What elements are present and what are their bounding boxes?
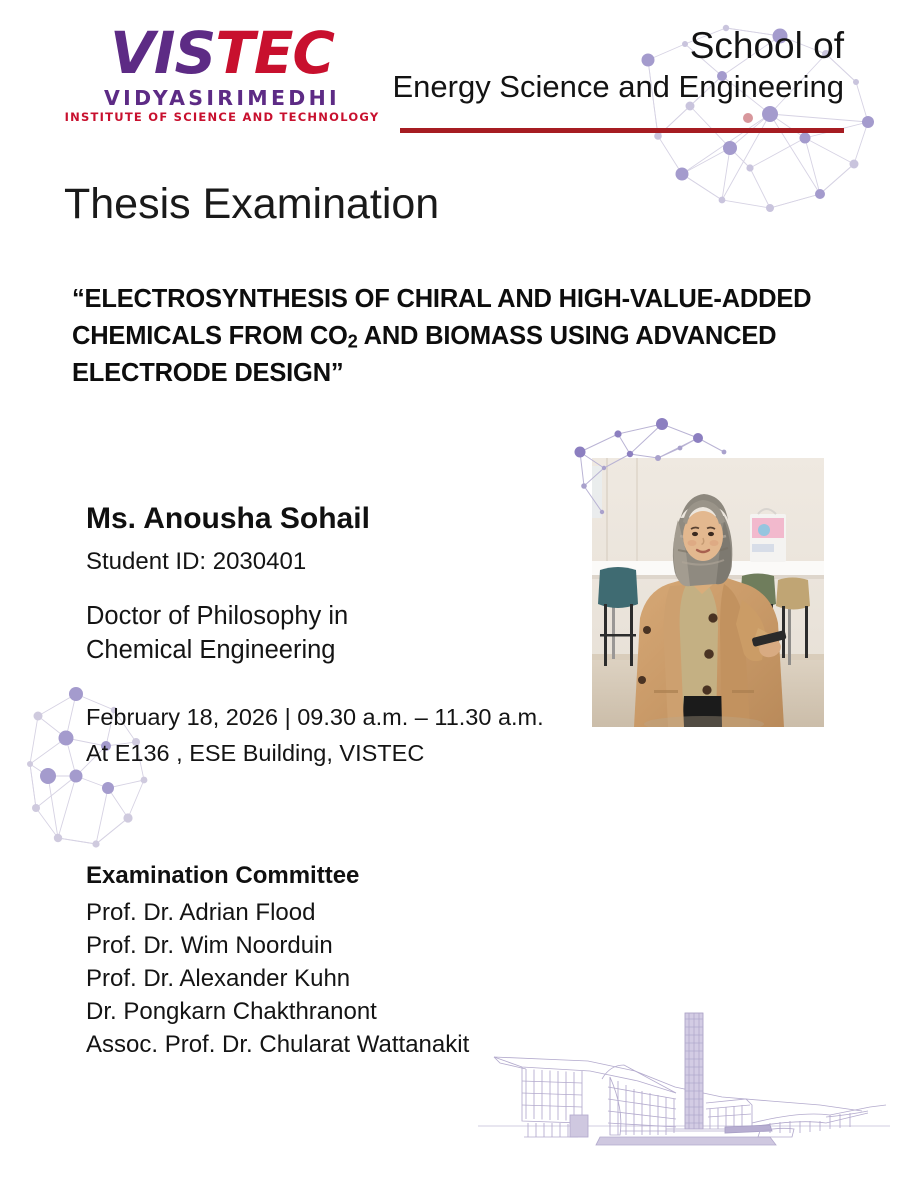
school-line-2: Energy Science and Engineering: [392, 69, 844, 105]
school-name-block: School of Energy Science and Engineering: [392, 26, 844, 104]
ese-building-icon: [470, 1005, 900, 1170]
list-item: Prof. Dr. Wim Noorduin: [86, 929, 469, 962]
list-item: Assoc. Prof. Dr. Chularat Wattanakit: [86, 1028, 469, 1061]
thesis-title-line-2-post: AND BIOMASS USING ADVANCED: [358, 322, 777, 350]
logo-subtitle-name: VIDYASIRIMEDHI: [62, 88, 382, 109]
committee-list: Prof. Dr. Adrian Flood Prof. Dr. Wim Noo…: [86, 896, 469, 1062]
event-datetime: February 18, 2026 | 09.30 a.m. – 11.30 a…: [86, 704, 544, 731]
thesis-examination-poster: VISTEC VIDYASIRIMEDHI INSTITUTE OF SCIEN…: [0, 0, 900, 1200]
page-title: Thesis Examination: [64, 180, 439, 229]
student-id: Student ID: 2030401: [86, 548, 306, 576]
list-item: Prof. Dr. Adrian Flood: [86, 896, 469, 929]
event-venue: At E136 , ESE Building, VISTEC: [86, 740, 424, 767]
committee-heading: Examination Committee: [86, 862, 359, 890]
thesis-title-line-1: “ELECTROSYNTHESIS OF CHIRAL AND HIGH-VAL…: [72, 285, 811, 313]
degree-program: Doctor of Philosophy in Chemical Enginee…: [86, 599, 516, 667]
student-photo: [592, 458, 824, 727]
school-red-rule: [400, 128, 844, 133]
student-name: Ms. Anousha Sohail: [86, 502, 370, 536]
school-line-1: School of: [392, 26, 844, 67]
degree-line-1: Doctor of Philosophy in: [86, 602, 348, 630]
student-portrait-image: [592, 458, 824, 727]
list-item: Prof. Dr. Alexander Kuhn: [86, 962, 469, 995]
thesis-title-line-2-pre: CHEMICALS FROM CO: [72, 322, 348, 350]
degree-line-2: Chemical Engineering: [86, 636, 335, 664]
logo-vis-text: VIS: [110, 19, 215, 87]
vistec-wordmark: VISTEC: [62, 24, 382, 82]
logo-tec-text: TEC: [215, 19, 334, 87]
logo-subtitle-tagline: INSTITUTE OF SCIENCE AND TECHNOLOGY: [62, 112, 382, 124]
thesis-title-line-3: ELECTRODE DESIGN”: [72, 359, 343, 387]
vistec-logo: VISTEC VIDYASIRIMEDHI INSTITUTE OF SCIEN…: [62, 24, 382, 123]
list-item: Dr. Pongkarn Chakthranont: [86, 995, 469, 1028]
thesis-title-subscript: 2: [348, 330, 358, 351]
thesis-title: “ELECTROSYNTHESIS OF CHIRAL AND HIGH-VAL…: [72, 281, 832, 392]
